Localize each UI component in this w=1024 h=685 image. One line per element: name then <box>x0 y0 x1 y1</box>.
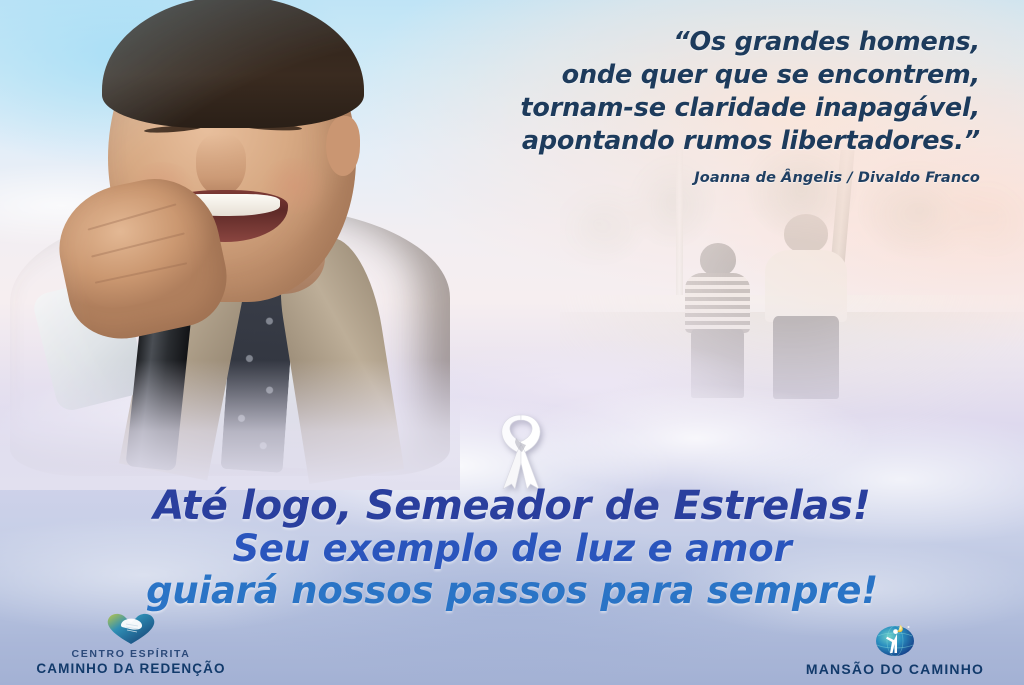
quote-block: “Os grandes homens, onde quer que se enc… <box>420 26 980 158</box>
headline-line-3: guiará nossos passos para sempre! <box>0 570 1024 612</box>
quote-line-2: onde quer que se encontrem, <box>420 59 980 92</box>
logo-mansao-do-caminho[interactable]: MANSÃO DO CAMINHO <box>770 620 1020 677</box>
portrait-ear <box>326 116 360 176</box>
white-mourning-ribbon-icon <box>489 411 553 489</box>
quote-line-3: tornam-se claridade inapagável, <box>420 92 980 125</box>
quote-line-4: apontando rumos libertadores.” <box>420 125 980 158</box>
headline-line-2: Seu exemplo de luz e amor <box>0 528 1024 570</box>
memorial-poster: “Os grandes homens, onde quer que se enc… <box>0 0 1024 685</box>
globe-figure-flame-icon <box>870 620 920 658</box>
portrait-hair <box>102 0 364 128</box>
quote-attribution: Joanna de Ângelis / Divaldo Franco <box>420 170 980 186</box>
logo-left-line-2: CAMINHO DA REDENÇÃO <box>6 661 256 677</box>
heart-hand-icon <box>105 611 157 645</box>
logo-left-line-1: CENTRO ESPÍRITA <box>6 648 256 661</box>
logo-right-line-2: MANSÃO DO CAMINHO <box>770 661 1020 677</box>
portrait-nose <box>196 134 246 196</box>
quote-line-1: “Os grandes homens, <box>420 26 980 59</box>
logo-centro-espirita-caminho-da-redencao[interactable]: CENTRO ESPÍRITA CAMINHO DA REDENÇÃO <box>6 611 256 677</box>
portrait-man-with-microphone <box>0 0 460 464</box>
headline-block: Até logo, Semeador de Estrelas! Seu exem… <box>0 484 1024 612</box>
headline-line-1: Até logo, Semeador de Estrelas! <box>0 484 1024 528</box>
